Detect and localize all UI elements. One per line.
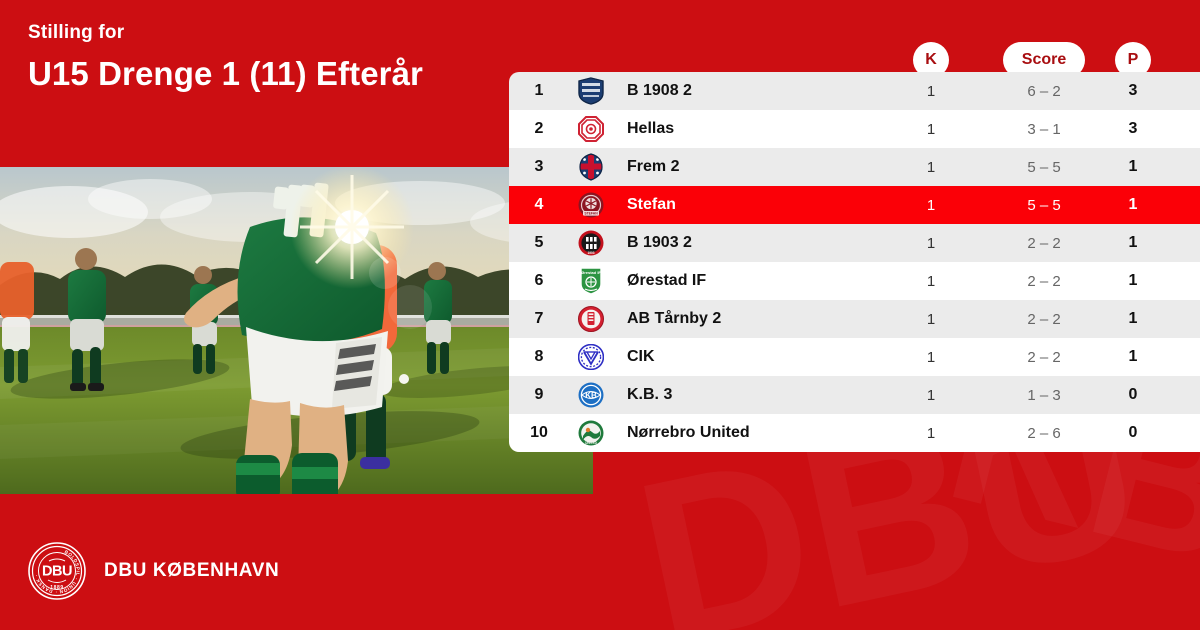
row-matches: 1	[913, 311, 949, 328]
svg-text:Ørestad IF: Ørestad IF	[581, 270, 601, 275]
svg-text:1889: 1889	[50, 585, 64, 591]
row-matches: 1	[913, 235, 949, 252]
row-rank: 8	[509, 348, 569, 366]
table-row[interactable]: 8CIK12 – 21	[509, 338, 1200, 376]
row-team: CIK	[613, 348, 1200, 366]
row-points: 3	[1115, 82, 1151, 100]
row-points: 3	[1115, 120, 1151, 138]
row-team: Frem 2	[613, 158, 1200, 176]
table-row[interactable]: 3Frem 215 – 51	[509, 148, 1200, 186]
footer: BOLDSPIL · UNION · DANSK · DBU 1889 DBU …	[28, 542, 279, 600]
footer-label: DBU KØBENHAVN	[104, 560, 279, 582]
standings-table: 1B 1908 216 – 232Hellas13 – 133Frem 215 …	[509, 72, 1200, 452]
row-score: 6 – 2	[1003, 83, 1085, 100]
row-team: Stefan	[613, 196, 1200, 214]
svg-text:STEFAN: STEFAN	[584, 212, 598, 216]
row-matches: 1	[913, 387, 949, 404]
team-crest-icon: STEFAN	[569, 192, 613, 218]
row-score: 5 – 5	[1003, 197, 1085, 214]
row-rank: 6	[509, 272, 569, 290]
row-rank: 9	[509, 386, 569, 404]
dbu-logo: BOLDSPIL · UNION · DANSK · DBU 1889	[28, 542, 86, 600]
row-points: 1	[1115, 348, 1151, 366]
table-row[interactable]: 51903B 1903 212 – 21	[509, 224, 1200, 262]
row-rank: 1	[509, 82, 569, 100]
hero-photo	[0, 167, 593, 494]
row-score: 1 – 3	[1003, 387, 1085, 404]
row-rank: 5	[509, 234, 569, 252]
row-team: AB Tårnby 2	[613, 310, 1200, 328]
row-matches: 1	[913, 273, 949, 290]
table-row[interactable]: 7AB Tårnby 212 – 21	[509, 300, 1200, 338]
team-crest-icon	[569, 306, 613, 332]
row-points: 1	[1115, 310, 1151, 328]
row-matches: 1	[913, 159, 949, 176]
row-matches: 1	[913, 121, 949, 138]
row-team: Ørestad IF	[613, 272, 1200, 290]
row-team: B 1908 2	[613, 82, 1200, 100]
row-rank: 2	[509, 120, 569, 138]
team-crest-icon: KB	[569, 382, 613, 408]
row-points: 0	[1115, 386, 1151, 404]
table-row[interactable]: 9KBK.B. 311 – 30	[509, 376, 1200, 414]
row-team: Hellas	[613, 120, 1200, 138]
row-rank: 3	[509, 158, 569, 176]
team-crest-icon	[569, 116, 613, 142]
row-score: 3 – 1	[1003, 121, 1085, 138]
team-crest-icon	[569, 153, 613, 181]
row-matches: 1	[913, 83, 949, 100]
row-score: 5 – 5	[1003, 159, 1085, 176]
row-score: 2 – 2	[1003, 235, 1085, 252]
row-score: 2 – 2	[1003, 349, 1085, 366]
row-matches: 1	[913, 197, 949, 214]
team-crest-icon: Ørestad IF	[569, 267, 613, 295]
table-row[interactable]: 10UNITEDNørrebro United12 – 60	[509, 414, 1200, 452]
row-score: 2 – 6	[1003, 425, 1085, 442]
row-rank: 7	[509, 310, 569, 328]
row-points: 1	[1115, 234, 1151, 252]
row-team: B 1903 2	[613, 234, 1200, 252]
row-points: 1	[1115, 158, 1151, 176]
row-team: K.B. 3	[613, 386, 1200, 404]
team-crest-icon	[569, 344, 613, 370]
svg-text:DBU: DBU	[42, 564, 72, 580]
row-score: 2 – 2	[1003, 273, 1085, 290]
svg-text:UNITED: UNITED	[585, 441, 598, 445]
table-row[interactable]: 4STEFANStefan15 – 51	[509, 186, 1200, 224]
row-points: 0	[1115, 424, 1151, 442]
row-points: 1	[1115, 272, 1151, 290]
row-rank: 4	[509, 196, 569, 214]
table-row[interactable]: 2Hellas13 – 13	[509, 110, 1200, 148]
row-matches: 1	[913, 349, 949, 366]
team-crest-icon	[569, 77, 613, 105]
team-crest-icon: UNITED	[569, 420, 613, 446]
table-row[interactable]: 1B 1908 216 – 23	[509, 72, 1200, 110]
row-score: 2 – 2	[1003, 311, 1085, 328]
row-team: Nørrebro United	[613, 424, 1200, 442]
row-points: 1	[1115, 196, 1151, 214]
svg-text:1903: 1903	[587, 251, 594, 255]
team-crest-icon: 1903	[569, 230, 613, 256]
table-row[interactable]: 6Ørestad IFØrestad IF12 – 21	[509, 262, 1200, 300]
row-rank: 10	[509, 424, 569, 442]
row-matches: 1	[913, 425, 949, 442]
football-match-illustration	[0, 167, 593, 494]
